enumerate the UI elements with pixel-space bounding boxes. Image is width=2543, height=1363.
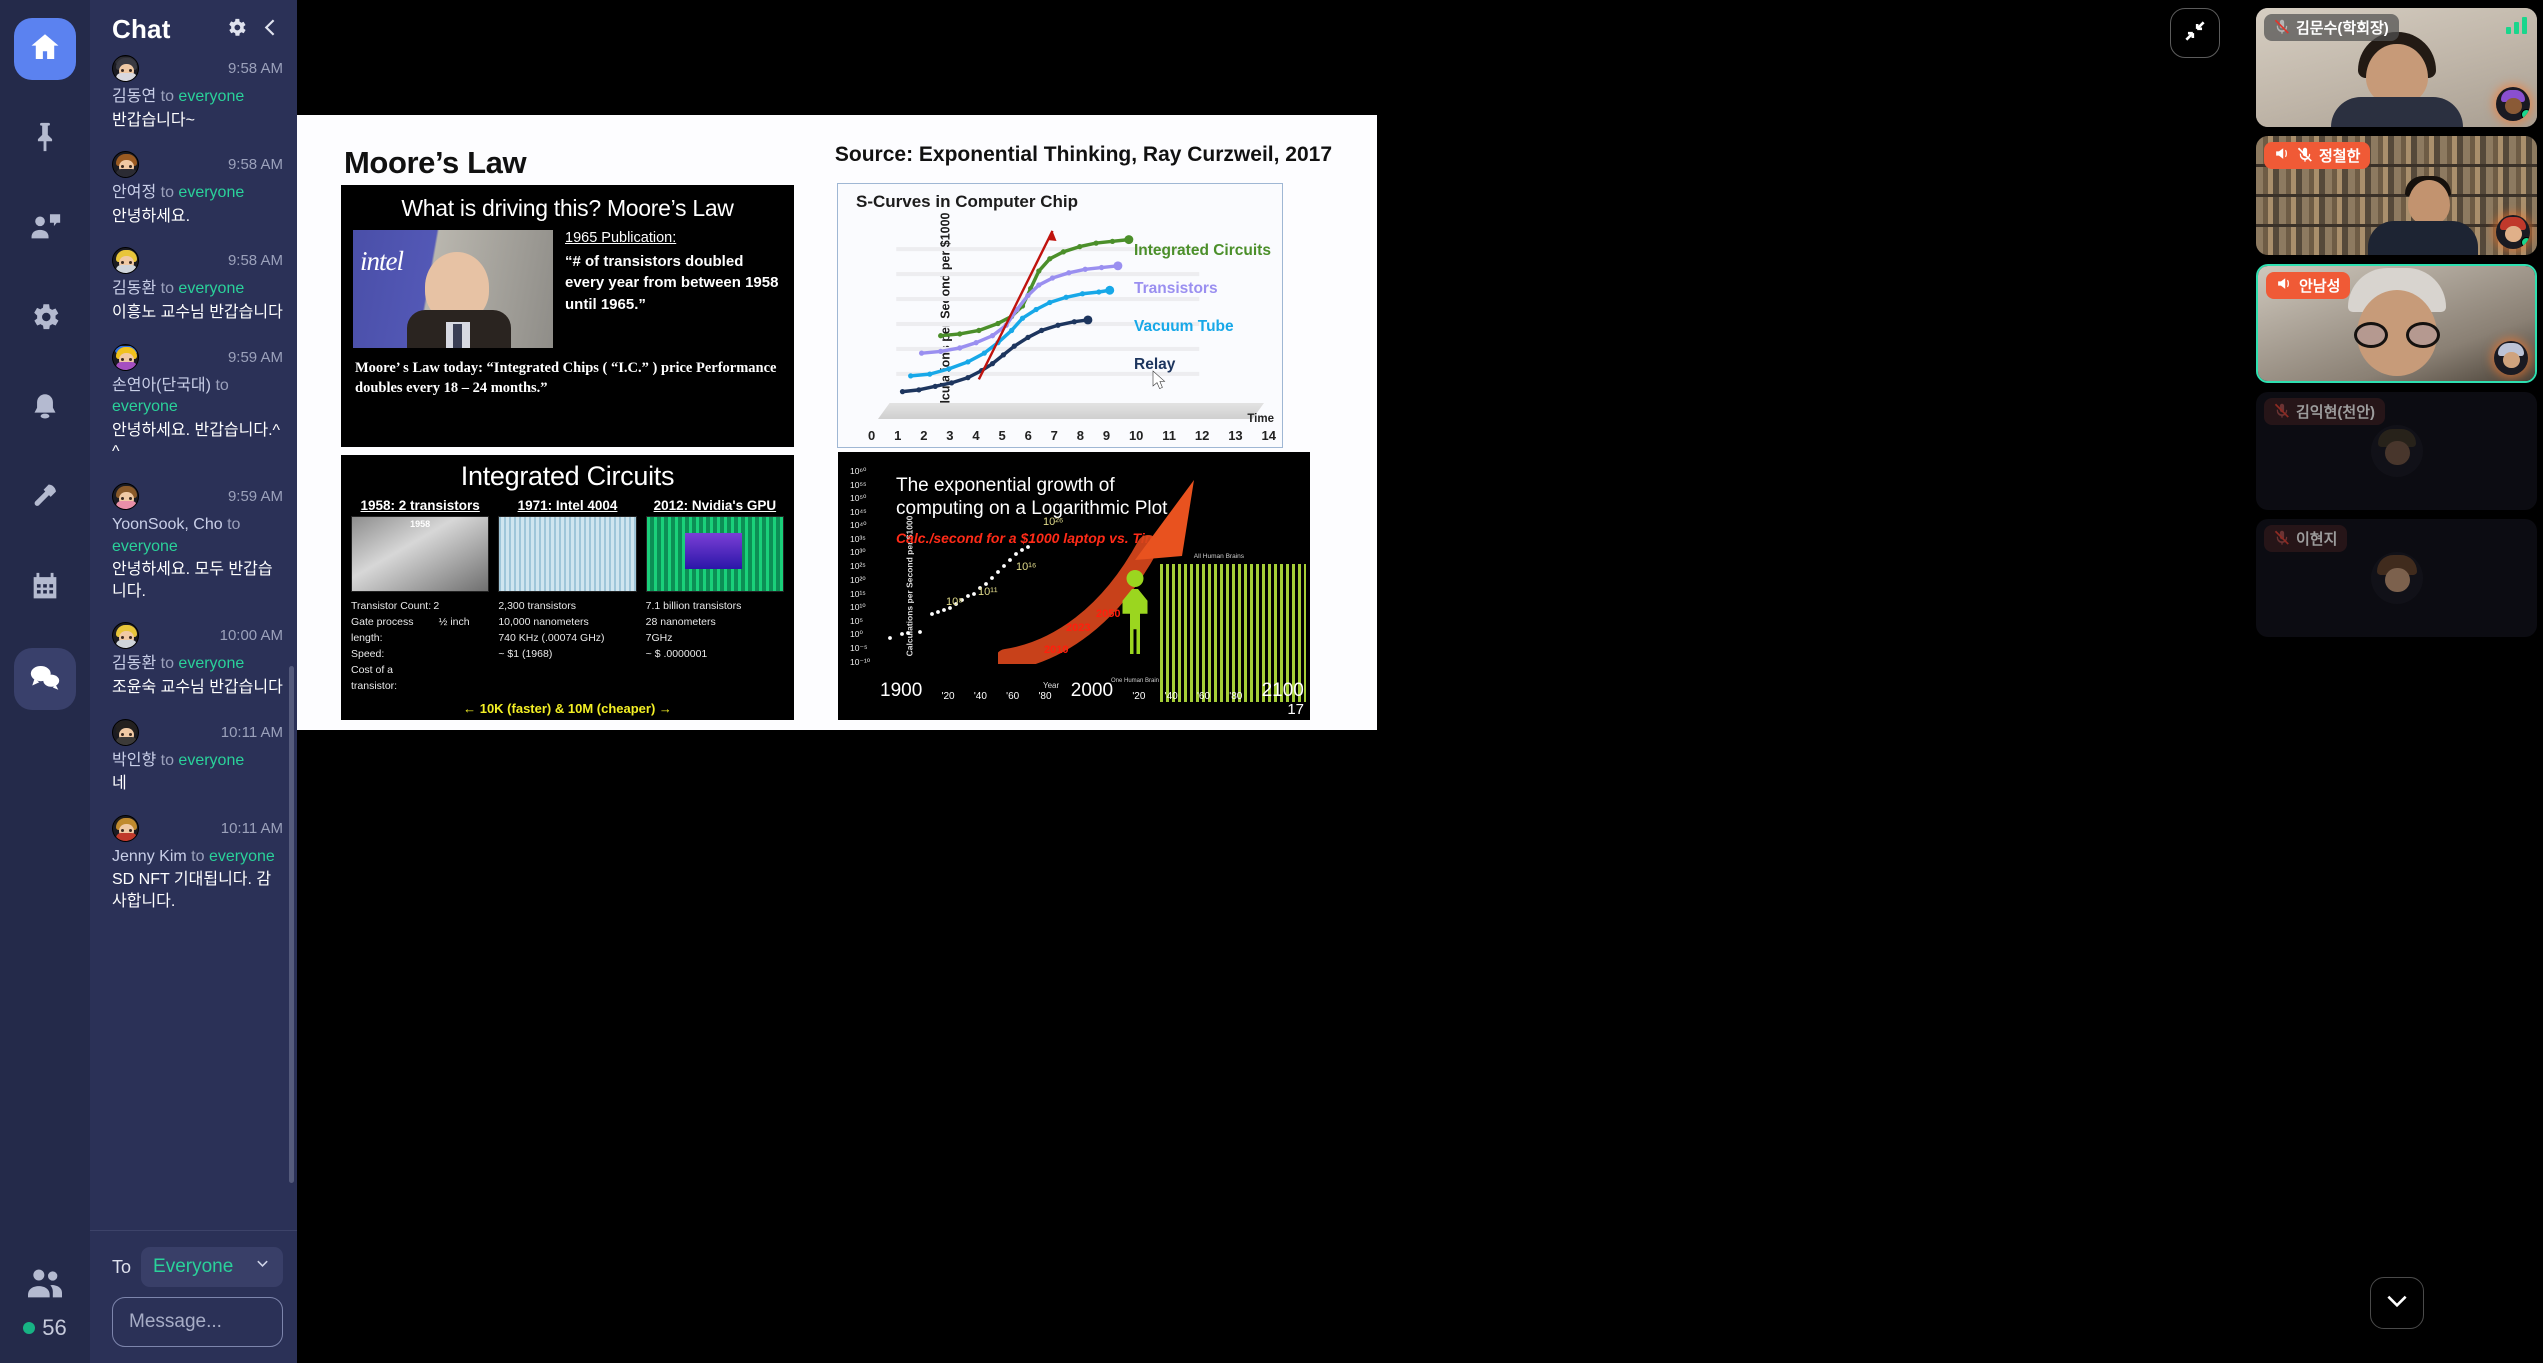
chart-xtick: 9 — [1103, 428, 1110, 443]
ep-ytick: 10¹⁰ — [850, 602, 880, 613]
rail-item-chat[interactable] — [14, 648, 76, 710]
speaker-icon — [2274, 145, 2291, 166]
rail-item-participants-chat[interactable] — [14, 198, 76, 260]
ep-ytick: 10⁴⁰ — [850, 520, 880, 531]
rail-item-tools[interactable] — [14, 468, 76, 530]
chat-scroll-area[interactable]: 9:58 AM김동연 to everyone반갑습니다~9:58 AM안여정 t… — [90, 55, 297, 1230]
message-time: 10:00 AM — [220, 622, 283, 649]
publication-heading: 1965 Publication: — [565, 230, 782, 246]
ic-heading: Integrated Circuits — [341, 461, 794, 492]
participant-tile[interactable]: 정철한 — [2256, 136, 2537, 255]
participant-name: 정철한 — [2319, 145, 2360, 166]
ep-marker: 2050 — [1096, 608, 1120, 620]
participant-tile[interactable]: 김문수(학회장) — [2256, 8, 2537, 127]
participant-name: 안남성 — [2299, 275, 2340, 296]
participant-tile[interactable]: 안남성 — [2256, 264, 2537, 383]
ep-data-points — [886, 538, 1056, 648]
chart-title: S-Curves in Computer Chip — [856, 192, 1078, 212]
message-text: 조윤숙 교수님 반갑습니다 — [112, 677, 283, 699]
chart-legend-item: Vacuum Tube — [1134, 318, 1234, 336]
avatar — [2496, 215, 2530, 249]
chat-settings-button[interactable] — [225, 16, 248, 44]
ic-callout-line1: ← 10K (faster) & 10M (cheaper) → — [341, 700, 794, 718]
slide-title: Moore’s Law — [344, 145, 526, 181]
avatar — [112, 344, 139, 371]
participant-badge: 김문수(학회장) — [2264, 14, 2399, 41]
gear-icon — [28, 300, 62, 339]
message-time: 10:11 AM — [221, 719, 283, 746]
chart-xticks: 01234567891011121314 — [868, 428, 1276, 443]
avatar — [112, 247, 139, 274]
ic-col-header: 1971: Intel 4004 — [498, 498, 636, 513]
chat-collapse-button[interactable] — [258, 16, 281, 44]
message-sender: 김동연 to everyone — [112, 86, 283, 108]
avatar — [2496, 87, 2530, 121]
moores-law-heading: What is driving this? Moore’s Law — [341, 195, 794, 222]
message-time: 9:59 AM — [228, 483, 283, 510]
ep-marker: 2010 — [1044, 644, 1068, 656]
avatar — [2371, 425, 2423, 477]
chat-message: 10:11 AM박인향 to everyone네 — [112, 719, 283, 795]
message-text: 반갑습니다~ — [112, 110, 283, 132]
ep-ytick: 10³⁵ — [850, 534, 880, 544]
message-time: 9:58 AM — [228, 151, 283, 178]
rail-item-calendar[interactable] — [14, 558, 76, 620]
bell-icon — [28, 390, 62, 429]
chevron-down-icon — [2384, 1288, 2410, 1319]
message-input[interactable]: Message... — [112, 1297, 283, 1347]
chat-message: 9:58 AM김동연 to everyone반갑습니다~ — [112, 55, 283, 131]
hammer-icon — [28, 480, 62, 519]
ep-marker: 2023 — [1066, 622, 1090, 634]
ep-ytick: 10²⁰ — [850, 575, 880, 586]
ic-spec-row: ~ $1 (1968) — [498, 647, 636, 663]
mic-off-icon — [2274, 402, 2290, 422]
message-text: 네 — [112, 773, 283, 795]
ep-ytick: 10⁻⁵ — [850, 643, 880, 654]
ep-ytick: 10¹⁵ — [850, 589, 880, 599]
rail-item-settings[interactable] — [14, 288, 76, 350]
chat-bubbles-icon — [28, 660, 62, 699]
message-time: 9:59 AM — [228, 344, 283, 371]
message-sender: 박인향 to everyone — [112, 750, 283, 772]
message-text: 이흥노 교수님 반갑습니다 — [112, 302, 283, 324]
chart-xtick: 13 — [1228, 428, 1242, 443]
chart-xtick: 0 — [868, 428, 875, 443]
participant-name: 이현지 — [2296, 528, 2337, 549]
panel-integrated-circuits: Integrated Circuits 1958: 2 transistors … — [341, 455, 794, 720]
chevron-down-icon — [254, 1256, 271, 1278]
chart-xtick: 8 — [1077, 428, 1084, 443]
panel-exponential-growth: Calculations per Second per $1000 10⁶⁰10… — [838, 452, 1310, 720]
chart-xtick: 2 — [920, 428, 927, 443]
ep-ytick: 10⁶⁰ — [850, 466, 880, 477]
gear-icon — [225, 16, 248, 44]
chart-xtick: 1 — [894, 428, 901, 443]
message-sender: 손연아(단국대) to everyone — [112, 375, 283, 418]
ep-ytick: 10³⁰ — [850, 547, 880, 558]
rail-item-home[interactable] — [14, 18, 76, 80]
pin-icon — [28, 120, 62, 159]
ic-spec-row: 28 nanometers — [646, 615, 784, 631]
chart-xtick: 14 — [1262, 428, 1276, 443]
ep-power-label: 10²⁶ — [1043, 516, 1063, 528]
participants-count-value: 56 — [42, 1315, 66, 1341]
ep-ytick: 10²⁵ — [850, 561, 880, 571]
participant-tile[interactable]: 이현지 — [2256, 519, 2537, 637]
chat-message: 9:58 AM안여정 to everyone안녕하세요. — [112, 151, 283, 227]
chat-footer: To Everyone Message... — [90, 1230, 297, 1363]
transistor-1958-image — [351, 516, 489, 592]
signal-strength-icon — [2506, 17, 2527, 34]
avatar — [112, 151, 139, 178]
ep-page-number: 17 — [1287, 701, 1304, 718]
message-time: 10:11 AM — [221, 815, 283, 842]
message-sender: 안여정 to everyone — [112, 182, 283, 204]
chart-xtick: 3 — [946, 428, 953, 443]
chat-message: 10:00 AM김동환 to everyone조윤숙 교수님 반갑습니다 — [112, 622, 283, 698]
ep-ytick: 10⁰ — [850, 629, 880, 640]
chat-message: 10:11 AMJenny Kim to everyoneSD NFT 기대됩니… — [112, 815, 283, 913]
slide-source: Source: Exponential Thinking, Ray Curzwe… — [835, 143, 1332, 167]
chart-xtick: 5 — [998, 428, 1005, 443]
chart-xtick: 12 — [1195, 428, 1209, 443]
ic-col-header: 2012: Nvidia's GPU — [646, 498, 784, 513]
chevron-left-icon — [258, 16, 281, 44]
chart-xtick: 10 — [1129, 428, 1143, 443]
participant-name: 김문수(학회장) — [2296, 17, 2389, 38]
people-icon — [25, 1291, 65, 1308]
panel-s-curves-chart: S-Curves in Computer Chip Calculations p… — [837, 183, 1283, 448]
ep-ytick: 10⁵⁵ — [850, 480, 880, 490]
message-sender: 김동환 to everyone — [112, 653, 283, 675]
moores-law-today: Moore’ s Law today: “Integrated Chips ( … — [355, 358, 780, 398]
avatar — [112, 719, 139, 746]
participant-name: 김익현(천안) — [2296, 401, 2375, 422]
chart-floor — [878, 403, 1264, 419]
ic-col-header: 1958: 2 transistors — [351, 498, 489, 513]
ep-ytick: 10⁵ — [850, 616, 880, 626]
ic-spec-row: Gate process length:½ inch — [351, 615, 489, 647]
message-sender: Jenny Kim to everyone — [112, 846, 283, 868]
avatar — [112, 815, 139, 842]
ic-spec-row: 740 KHz (.00074 GHz) — [498, 631, 636, 647]
message-text: 안녕하세요. 반갑습니다.^^ — [112, 420, 283, 463]
people-chat-icon — [28, 210, 62, 249]
chart-xtick: 11 — [1162, 428, 1176, 443]
participant-badge: 이현지 — [2264, 525, 2347, 552]
recipient-select[interactable]: Everyone — [141, 1247, 283, 1287]
collapse-view-button[interactable] — [2170, 8, 2220, 58]
ep-power-label: 10⁸ — [946, 596, 963, 608]
chart-xtick: 7 — [1051, 428, 1058, 443]
avatar — [112, 55, 139, 82]
chat-recipient-row: To Everyone — [112, 1247, 283, 1287]
rail-item-notifications[interactable] — [14, 378, 76, 440]
chat-message: 9:59 AMYoonSook, Cho to everyone안녕하세요. 모… — [112, 483, 283, 602]
ep-ytick: 10⁵⁰ — [850, 493, 880, 504]
avatar — [2494, 341, 2528, 375]
zoom-meeting-window: 56 Chat 9:58 AM김동연 to everyone반갑습니다~9:58… — [0, 0, 2543, 1363]
message-sender: YoonSook, Cho to everyone — [112, 514, 283, 557]
mic-off-icon — [2297, 146, 2313, 166]
presentation-slide: Moore’s Law Source: Exponential Thinking… — [297, 115, 1377, 730]
message-time: 9:58 AM — [228, 55, 283, 82]
chat-scrollbar[interactable] — [289, 666, 294, 1183]
ic-spec-row: 2,300 transistors — [498, 599, 636, 615]
filmstrip-next-button[interactable] — [2370, 1277, 2424, 1329]
rail-item-pin[interactable] — [14, 108, 76, 170]
participant-badge: 안남성 — [2266, 272, 2350, 299]
avatar — [112, 622, 139, 649]
participant-badge: 정철한 — [2264, 142, 2370, 169]
chat-panel: Chat 9:58 AM김동연 to everyone반갑습니다~9:58 AM… — [90, 0, 297, 1363]
recipient-value: Everyone — [153, 1256, 233, 1278]
ic-spec-column: 2,300 transistors10,000 nanometers740 KH… — [498, 599, 636, 695]
ic-spec-row: 7GHz — [646, 631, 784, 647]
to-label: To — [112, 1257, 131, 1278]
collapse-arrows-icon — [2182, 18, 2208, 49]
speaker-icon — [2276, 275, 2293, 296]
chart-legend-item: Relay — [1134, 356, 1175, 374]
ic-spec-row: Speed: — [351, 647, 489, 663]
ic-spec-column: 7.1 billion transistors28 nanometers7GHz… — [646, 599, 784, 695]
chat-title: Chat — [112, 14, 215, 45]
participant-tile[interactable]: 김익현(천안) — [2256, 392, 2537, 510]
ep-xticks: 1900'20'40'60'80 2000'20'40'60'802100 — [880, 680, 1304, 702]
ep-yticks: 10⁶⁰10⁵⁵10⁵⁰10⁴⁵10⁴⁰10³⁵10³⁰10²⁵10²⁰10¹⁵… — [850, 466, 880, 668]
participants-count: 56 — [23, 1315, 66, 1341]
intel-logo: intel — [360, 246, 403, 277]
ic-spec-column: Transistor Count:2Gate process length:½ … — [351, 599, 489, 695]
calendar-icon — [28, 570, 62, 609]
message-text: 안녕하세요. 모두 반갑습니다. — [112, 559, 283, 602]
nvidia-gpu-image — [646, 516, 784, 592]
message-sender: 김동환 to everyone — [112, 278, 283, 300]
mic-off-icon — [2274, 18, 2290, 38]
shared-screen-stage: Moore’s Law Source: Exponential Thinking… — [297, 0, 2250, 1363]
participant-badge: 김익현(천안) — [2264, 398, 2385, 425]
chat-header: Chat — [90, 0, 297, 55]
ep-power-label: 10¹⁶ — [1016, 561, 1036, 573]
chat-message: 9:58 AM김동환 to everyone이흥노 교수님 반갑습니다 — [112, 247, 283, 323]
ic-spec-row: 7.1 billion transistors — [646, 599, 784, 615]
chart-xlabel: Time — [1247, 413, 1274, 425]
message-text: SD NFT 기대됩니다. 감사합니다. — [112, 869, 283, 912]
home-icon — [28, 30, 62, 69]
ic-spec-row: 10,000 nanometers — [498, 615, 636, 631]
online-dot — [23, 1322, 35, 1334]
ep-brains-label: All Human Brains — [1194, 553, 1244, 560]
message-time: 9:58 AM — [228, 247, 283, 274]
ic-spec-row: Cost of a transistor: — [351, 663, 489, 695]
chart-legend-item: Transistors — [1134, 280, 1218, 298]
ep-power-label: 10¹¹ — [978, 586, 998, 598]
participant-filmstrip: 김문수(학회장) 정철한 — [2250, 0, 2543, 1363]
moores-quote: “# of transistors doubled every year fro… — [565, 251, 782, 315]
ep-one-human-brain — [1120, 570, 1150, 654]
chart-xtick: 4 — [972, 428, 979, 443]
rail-item-participants[interactable] — [25, 1264, 65, 1309]
gordon-moore-photo: intel — [353, 230, 553, 348]
chat-message-list: 9:58 AM김동연 to everyone반갑습니다~9:58 AM안여정 t… — [90, 55, 297, 1230]
panel-moores-law: What is driving this? Moore’s Law intel … — [341, 185, 794, 447]
ic-spec-row: ~ $ .0000001 — [646, 647, 784, 663]
left-icon-rail: 56 — [0, 0, 90, 1363]
avatar — [112, 483, 139, 510]
ic-spec-row: Transistor Count:2 — [351, 599, 489, 615]
chart-legend-item: Integrated Circuits — [1134, 242, 1271, 260]
mic-off-icon — [2274, 529, 2290, 549]
ep-ytick: 10⁴⁵ — [850, 507, 880, 517]
message-text: 안녕하세요. — [112, 206, 283, 228]
chat-message: 9:59 AM손연아(단국대) to everyone안녕하세요. 반갑습니다.… — [112, 344, 283, 463]
intel-4004-image — [498, 516, 636, 592]
chart-xtick: 6 — [1025, 428, 1032, 443]
ep-ytick: 10⁻¹⁰ — [850, 657, 880, 668]
avatar — [2371, 552, 2423, 604]
